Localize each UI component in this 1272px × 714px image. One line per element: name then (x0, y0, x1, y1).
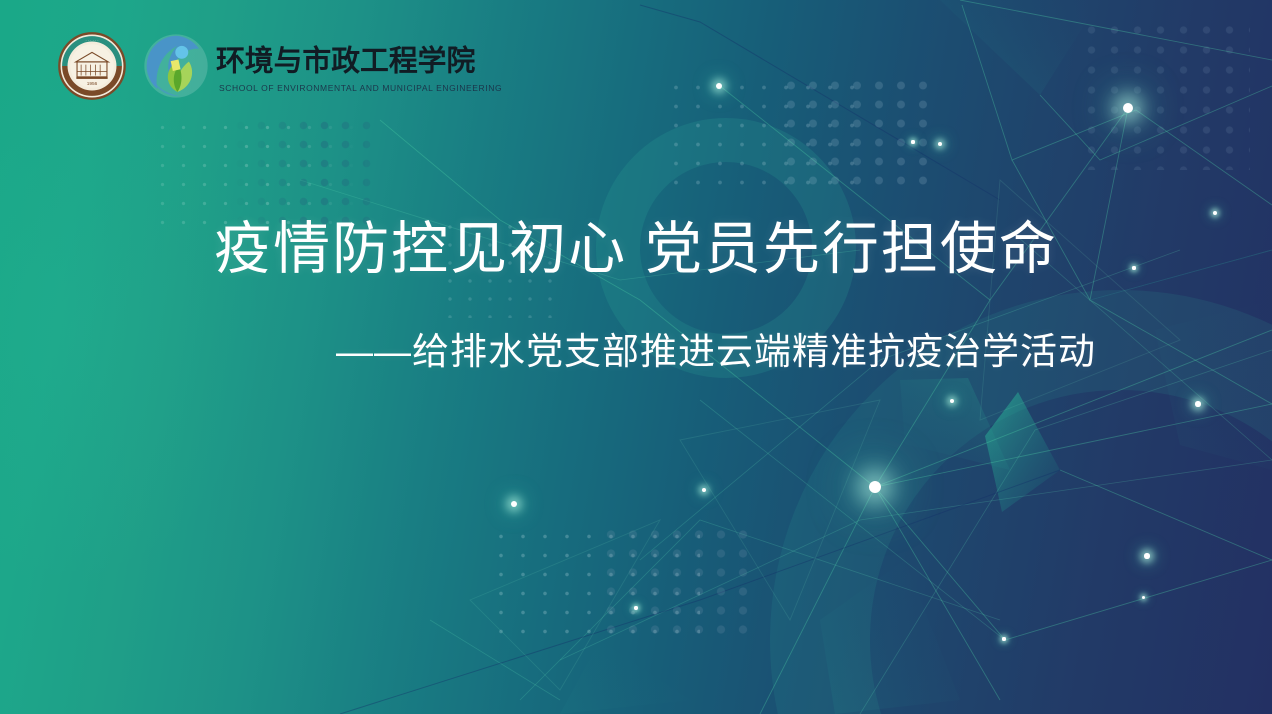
header-logo-group: 1956 · · · · · · (58, 30, 502, 102)
dot-grid-pattern-bottom-center-large (600, 525, 760, 641)
dot-grid-pattern-mid-center (440, 218, 560, 318)
glow-node (869, 481, 881, 493)
dot-grid-pattern-bottom-center (490, 527, 700, 639)
glow-node (1132, 266, 1135, 269)
glow-node (702, 488, 707, 493)
glow-node (511, 501, 517, 507)
dot-grid-pattern-far-right (1080, 20, 1250, 170)
dot-grid-pattern-top-right (665, 78, 870, 190)
svg-text:· · · · · ·: · · · · · · (85, 38, 98, 43)
school-name-cn-text: 环境与市政工程学院 (216, 44, 475, 77)
title-block: 疫情防控见初心 党员先行担使命 ——给排水党支部推进云端精准抗疫治学活动 (0, 218, 1272, 374)
glow-node (1195, 401, 1200, 406)
glow-node (950, 399, 954, 403)
dot-grid-pattern-top-left (152, 118, 362, 230)
dot-grid-pattern-top-left-large (230, 116, 380, 232)
background-decoration-layer (0, 0, 1272, 714)
glow-node (1213, 211, 1217, 215)
dot-grid-pattern-top-right-large (780, 76, 930, 192)
page-subtitle: ——给排水党支部推进云端精准抗疫治学活动 (0, 282, 1272, 374)
presentation-slide: 1956 · · · · · · (0, 0, 1272, 714)
school-brand-lockup: 环境与市政工程学院 SCHOOL OF ENVIRONMENTAL AND MU… (140, 30, 502, 102)
glow-node (716, 83, 722, 89)
glow-node (911, 140, 914, 143)
low-poly-network-graphic (0, 0, 1272, 714)
school-wordmark: 环境与市政工程学院 SCHOOL OF ENVIRONMENTAL AND MU… (216, 40, 502, 93)
school-name-en: SCHOOL OF ENVIRONMENTAL AND MUNICIPAL EN… (219, 83, 502, 93)
page-title: 疫情防控见初心 党员先行担使命 (0, 218, 1272, 282)
glow-node (938, 142, 942, 146)
school-name-cn: 环境与市政工程学院 (216, 40, 502, 82)
svg-text:1956: 1956 (87, 81, 98, 87)
glow-node (634, 606, 637, 609)
university-seal-icon: 1956 · · · · · · (58, 32, 126, 100)
glow-node (1144, 553, 1149, 558)
glow-node (1142, 596, 1145, 599)
glow-node (1002, 637, 1005, 640)
eco-leaf-circle-icon (140, 30, 212, 102)
glow-node (1123, 103, 1133, 113)
